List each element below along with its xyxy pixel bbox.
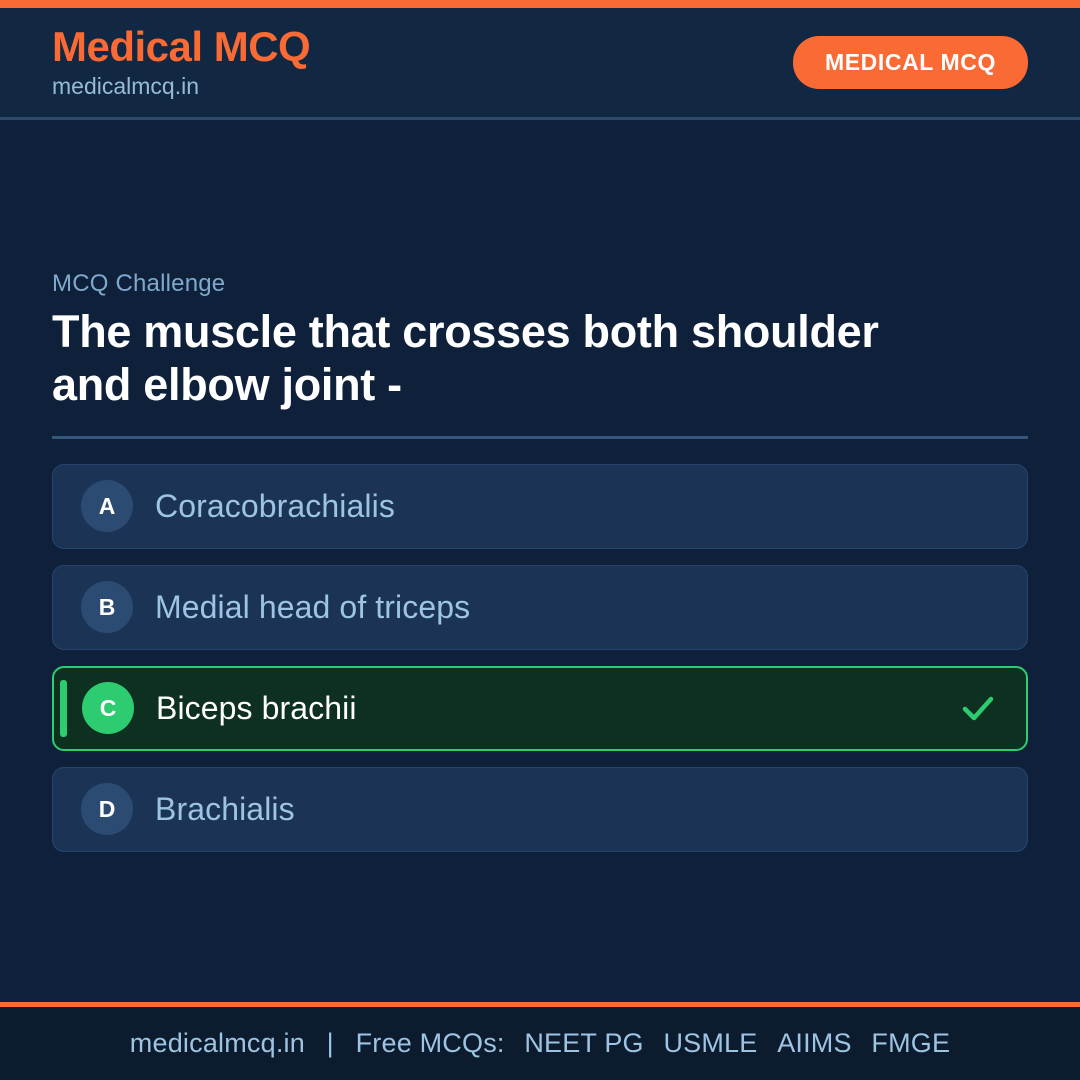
- footer-site[interactable]: medicalmcq.in: [130, 1028, 305, 1058]
- option-a-label: Coracobrachialis: [155, 488, 999, 525]
- correct-accent-bar: [60, 680, 67, 737]
- header: Medical MCQ medicalmcq.in MEDICAL MCQ: [0, 8, 1080, 120]
- option-b[interactable]: B Medial head of triceps: [52, 565, 1028, 650]
- question-divider: [52, 436, 1028, 439]
- footer-exam-fmge[interactable]: FMGE: [871, 1028, 950, 1058]
- footer-exam-neet-pg[interactable]: NEET PG: [524, 1028, 643, 1058]
- top-accent-bar: [0, 0, 1080, 8]
- footer-exams-label: Free MCQs:: [356, 1028, 505, 1058]
- option-c-label: Biceps brachii: [156, 690, 958, 727]
- question-kicker: MCQ Challenge: [52, 270, 1028, 298]
- footer-separator: |: [313, 1028, 348, 1058]
- footer-exam-aiims[interactable]: AIIMS: [777, 1028, 852, 1058]
- option-b-label: Medial head of triceps: [155, 589, 999, 626]
- header-badge[interactable]: MEDICAL MCQ: [793, 36, 1028, 89]
- option-a-letter-badge: A: [81, 480, 133, 532]
- main-content: MCQ Challenge The muscle that crosses bo…: [0, 120, 1080, 1002]
- question-text: The muscle that crosses both shoulder an…: [52, 306, 952, 410]
- option-d-label: Brachialis: [155, 791, 999, 828]
- brand-url: medicalmcq.in: [52, 72, 310, 101]
- option-c-letter-badge: C: [82, 682, 134, 734]
- check-icon: [958, 688, 998, 728]
- question-block: MCQ Challenge The muscle that crosses bo…: [52, 270, 1028, 410]
- option-a[interactable]: A Coracobrachialis: [52, 464, 1028, 549]
- footer-text: medicalmcq.in | Free MCQs: NEET PG USMLE…: [130, 1028, 950, 1059]
- option-d-letter-badge: D: [81, 783, 133, 835]
- option-d[interactable]: D Brachialis: [52, 767, 1028, 852]
- footer-exams: NEET PG USMLE AIIMS FMGE: [512, 1028, 950, 1058]
- mcq-card: Medical MCQ medicalmcq.in MEDICAL MCQ MC…: [0, 0, 1080, 1080]
- option-b-letter-badge: B: [81, 581, 133, 633]
- footer-exam-usmle[interactable]: USMLE: [663, 1028, 757, 1058]
- brand-title: Medical MCQ: [52, 24, 310, 69]
- brand: Medical MCQ medicalmcq.in: [52, 24, 310, 100]
- options-list: A Coracobrachialis B Medial head of tric…: [52, 464, 1028, 852]
- option-c[interactable]: C Biceps brachii: [52, 666, 1028, 751]
- footer: medicalmcq.in | Free MCQs: NEET PG USMLE…: [0, 1002, 1080, 1080]
